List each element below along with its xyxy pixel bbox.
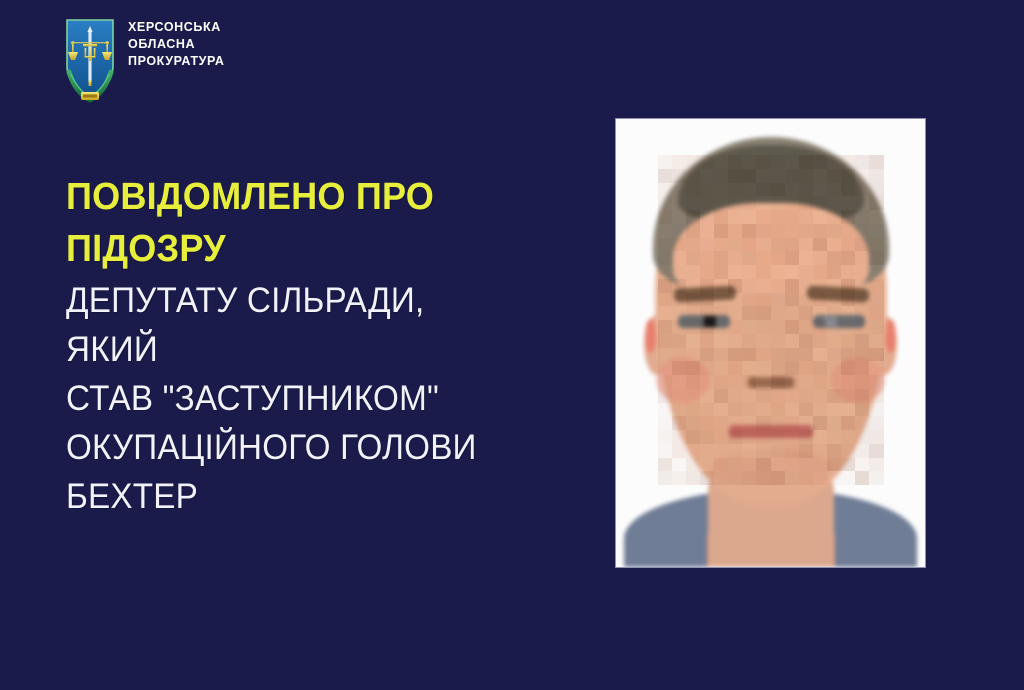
body-line-1: ДЕПУТАТУ СІЛЬРАДИ, ЯКИЙ bbox=[66, 276, 522, 374]
pupil-left-shape bbox=[704, 316, 716, 327]
body-line-2: СТАВ "ЗАСТУПНИКОМ" bbox=[66, 374, 522, 423]
eye-right-shape bbox=[813, 315, 865, 328]
suspect-photo bbox=[616, 119, 925, 567]
press-release-banner: ХЕРСОНСЬКА ОБЛАСНА ПРОКУРАТУРА ПОВІДОМЛЕ… bbox=[0, 0, 1024, 690]
logo-line-2: ОБЛАСНА bbox=[128, 37, 225, 52]
cheek-left-shape bbox=[656, 357, 710, 403]
body-line-4: БЕХТЕР bbox=[66, 472, 522, 521]
nose-shape bbox=[748, 377, 794, 388]
ear-right-inner-shape bbox=[885, 319, 896, 353]
announcement-text: ПОВІДОМЛЕНО ПРО ПІДОЗРУ ДЕПУТАТУ СІЛЬРАД… bbox=[66, 172, 546, 521]
headline-line-2: ПІДОЗРУ bbox=[66, 224, 522, 274]
cheek-right-shape bbox=[831, 357, 885, 403]
ear-left-inner-shape bbox=[645, 319, 656, 353]
mouth-shape bbox=[729, 425, 813, 438]
logo-line-1: ХЕРСОНСЬКА bbox=[128, 20, 225, 35]
prosecutor-coat-of-arms-icon bbox=[62, 14, 118, 106]
forehead-shape bbox=[673, 203, 869, 295]
headline-line-1: ПОВІДОМЛЕНО ПРО bbox=[66, 172, 522, 222]
logo-line-3: ПРОКУРАТУРА bbox=[128, 54, 225, 69]
organization-name: ХЕРСОНСЬКА ОБЛАСНА ПРОКУРАТУРА bbox=[128, 14, 225, 69]
portrait-blur-layer bbox=[616, 119, 925, 567]
photo-content bbox=[616, 119, 925, 567]
body-line-3: ОКУПАЦІЙНОГО ГОЛОВИ bbox=[66, 423, 522, 472]
organization-logo: ХЕРСОНСЬКА ОБЛАСНА ПРОКУРАТУРА bbox=[62, 14, 225, 106]
pupil-right-shape bbox=[825, 316, 837, 327]
